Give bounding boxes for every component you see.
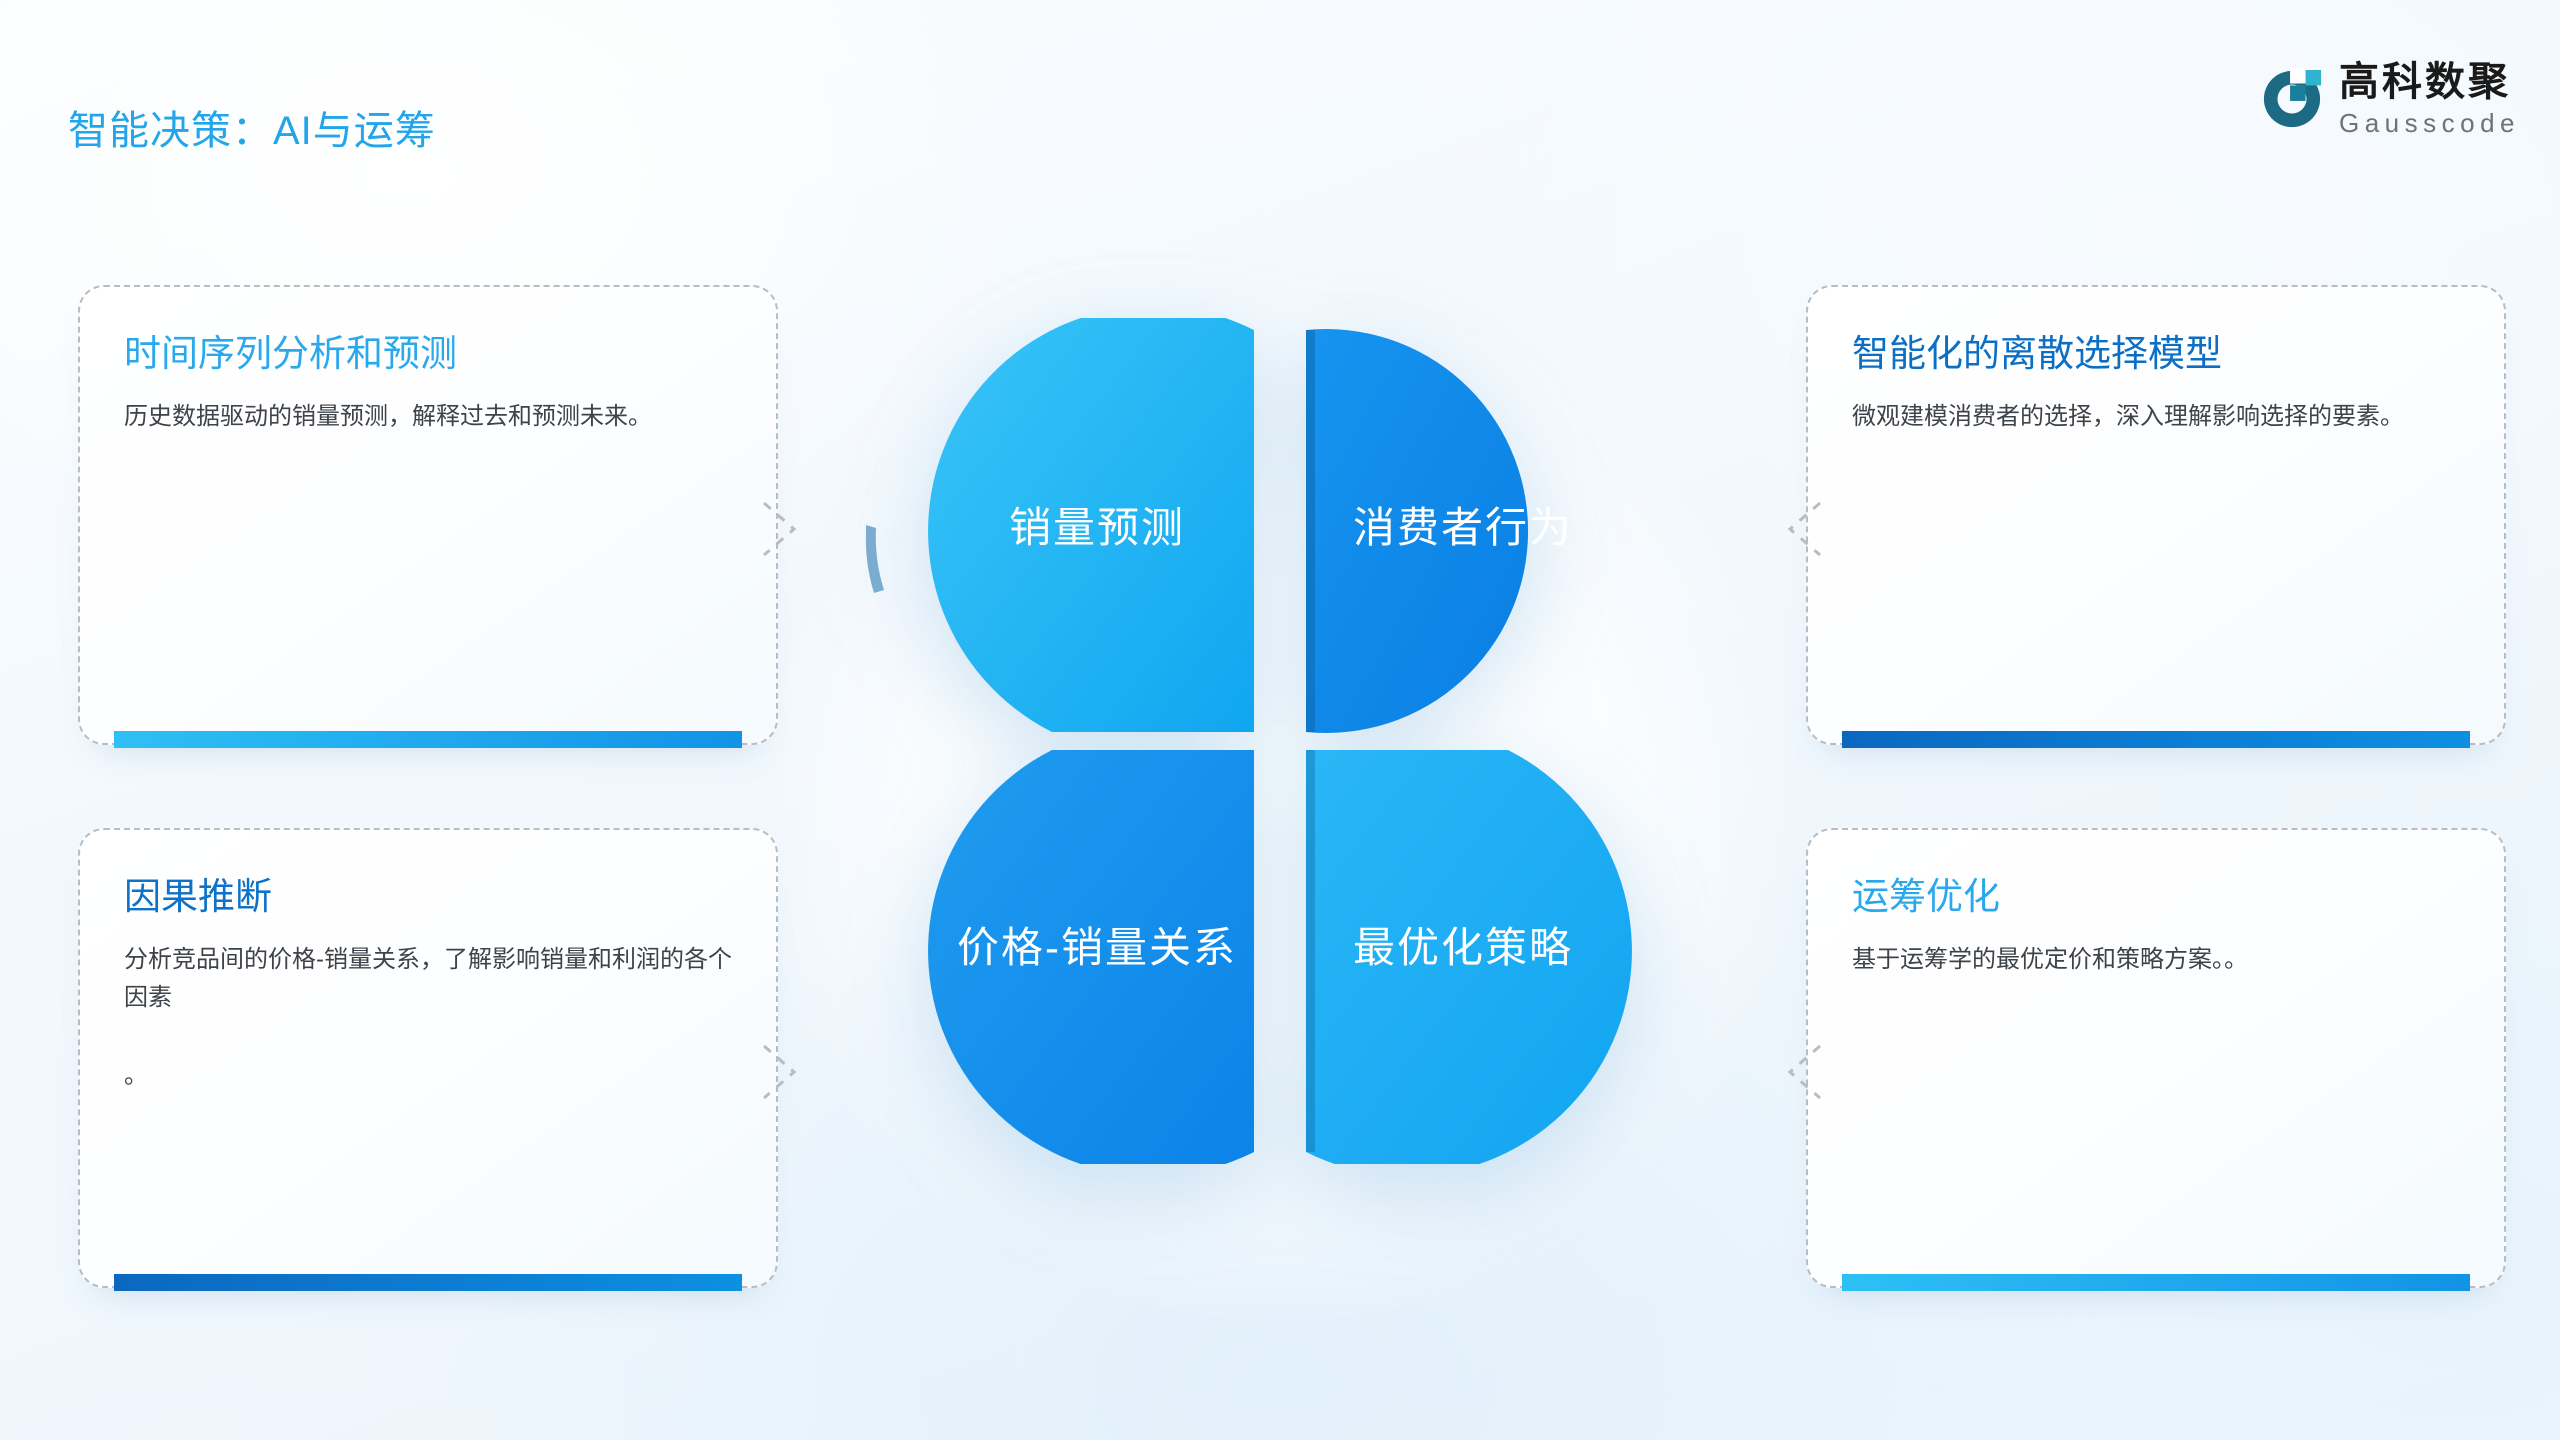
petal-svg: 销量预测 消费者行为 价格-销量关系 最优化策略 bbox=[840, 318, 1720, 1164]
card-time-series-accent-bar bbox=[114, 731, 742, 748]
card-causal-inference-accent-bar bbox=[114, 1274, 742, 1291]
four-petal-diagram: 销量预测 消费者行为 价格-销量关系 最优化策略 bbox=[840, 318, 1720, 1164]
gausscode-logo-icon bbox=[2261, 68, 2323, 130]
card-causal-inference-body: 分析竞品间的价格-销量关系，了解影响销量和利润的各个因素 。 bbox=[124, 941, 732, 1097]
brand-logo: 高科数聚 Gausscode bbox=[2261, 62, 2520, 136]
petal-seam-shadow-top bbox=[1306, 330, 1315, 732]
card-discrete-choice[interactable]: 智能化的离散选择模型 微观建模消费者的选择，深入理解影响选择的要素。 bbox=[1806, 285, 2506, 745]
card-operations-optimization-title: 运筹优化 bbox=[1852, 876, 2460, 919]
slide-root: 智能决策：AI与运筹 高科数聚 Gausscode bbox=[0, 0, 2560, 1440]
card-causal-inference-content: 因果推断 分析竞品间的价格-销量关系，了解影响销量和利润的各个因素 。 bbox=[80, 830, 776, 1286]
page-title: 智能决策：AI与运筹 bbox=[68, 98, 436, 156]
petal-label-consumer-behavior: 消费者行为 bbox=[1353, 504, 1573, 551]
card-time-series[interactable]: 时间序列分析和预测 历史数据驱动的销量预测，解释过去和预测未来。 bbox=[78, 285, 778, 745]
card-discrete-choice-title: 智能化的离散选择模型 bbox=[1852, 333, 2460, 376]
logo-wordmark: 高科数聚 Gausscode bbox=[2339, 62, 2520, 136]
logo-name-en: Gausscode bbox=[2339, 110, 2520, 136]
card-discrete-choice-accent-bar bbox=[1842, 731, 2470, 748]
card-discrete-choice-content: 智能化的离散选择模型 微观建模消费者的选择，深入理解影响选择的要素。 bbox=[1808, 287, 2504, 743]
card-discrete-choice-body: 微观建模消费者的选择，深入理解影响选择的要素。 bbox=[1852, 398, 2460, 437]
petal-label-optimal-strategy: 最优化策略 bbox=[1353, 924, 1573, 971]
card-operations-optimization-body: 基于运筹学的最优定价和策略方案。。 bbox=[1852, 941, 2460, 980]
petal-label-price-sales: 价格-销量关系 bbox=[957, 924, 1237, 971]
card-operations-optimization-accent-bar bbox=[1842, 1274, 2470, 1291]
card-causal-inference[interactable]: 因果推断 分析竞品间的价格-销量关系，了解影响销量和利润的各个因素 。 bbox=[78, 828, 778, 1288]
card-operations-optimization[interactable]: 运筹优化 基于运筹学的最优定价和策略方案。。 bbox=[1806, 828, 2506, 1288]
card-time-series-body: 历史数据驱动的销量预测，解释过去和预测未来。 bbox=[124, 398, 732, 437]
petal-label-sales-forecast: 销量预测 bbox=[1009, 504, 1185, 551]
card-time-series-content: 时间序列分析和预测 历史数据驱动的销量预测，解释过去和预测未来。 bbox=[80, 287, 776, 743]
card-time-series-title: 时间序列分析和预测 bbox=[124, 333, 732, 376]
card-operations-optimization-content: 运筹优化 基于运筹学的最优定价和策略方案。。 bbox=[1808, 830, 2504, 1286]
petal-seam-shadow-bottom bbox=[1306, 750, 1315, 1152]
card-causal-inference-title: 因果推断 bbox=[124, 876, 732, 919]
logo-name-cn: 高科数聚 bbox=[2339, 62, 2520, 102]
